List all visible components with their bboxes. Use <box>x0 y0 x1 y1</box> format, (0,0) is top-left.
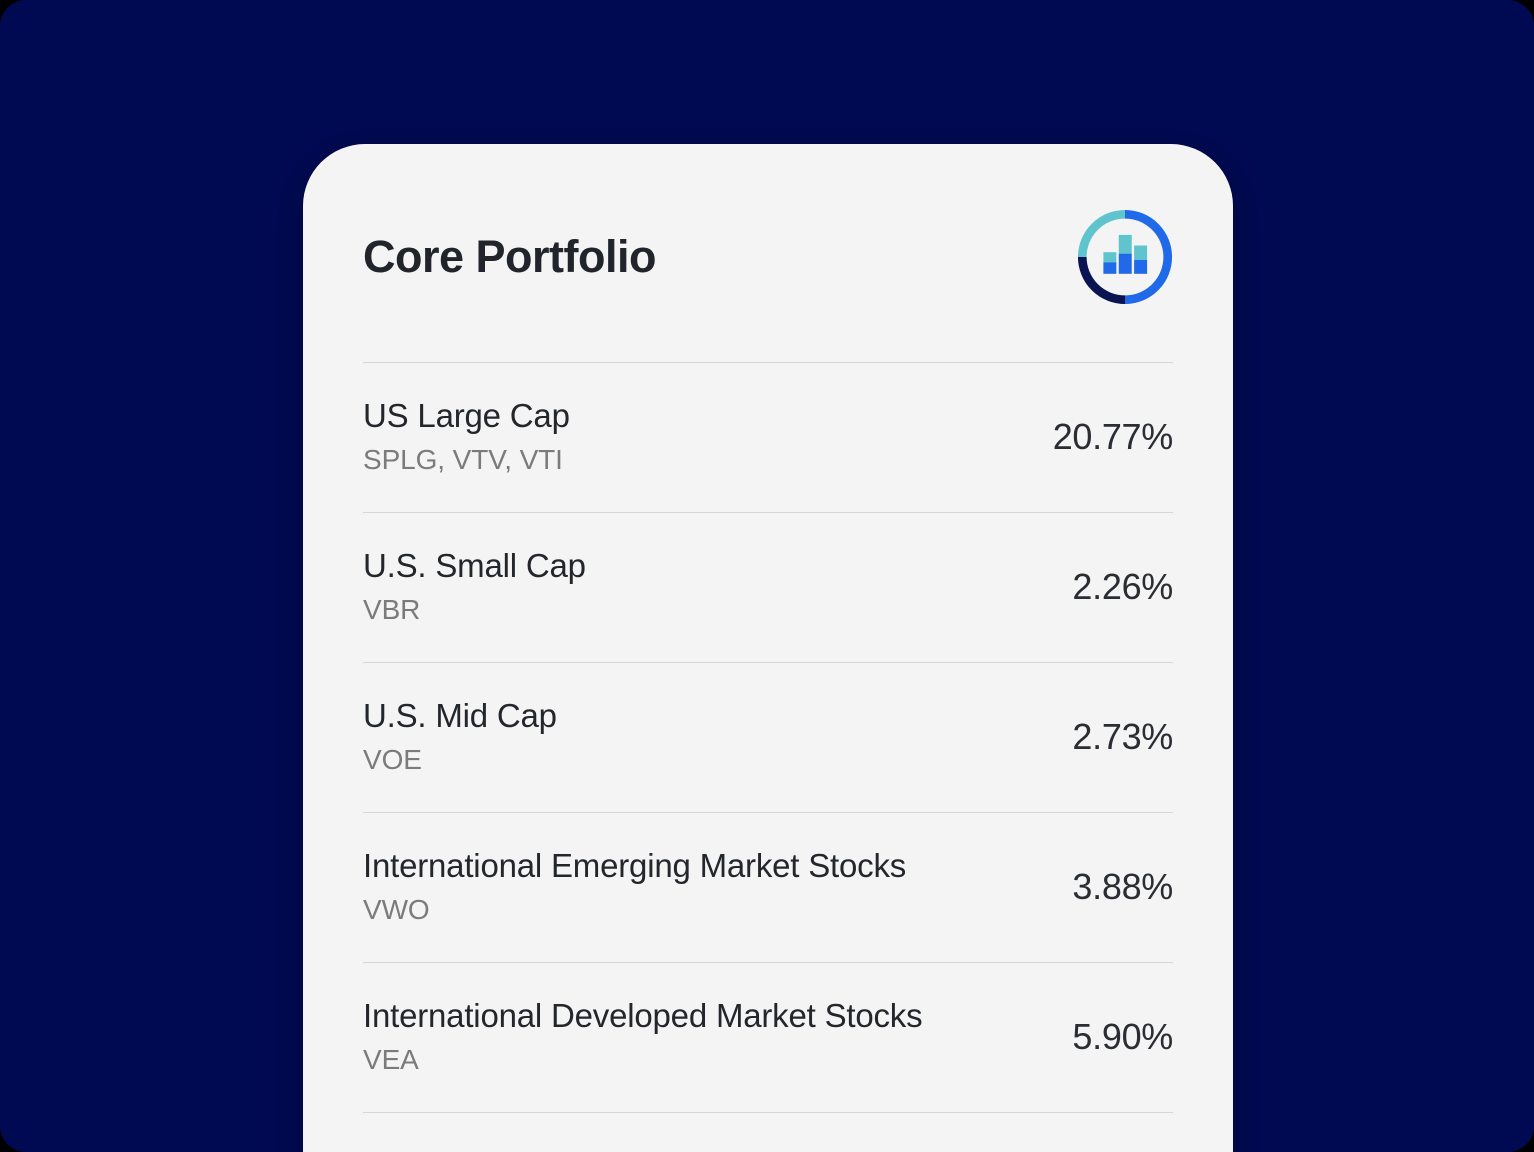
holding-allocation-percent: 5.90% <box>1072 1019 1173 1055</box>
holding-tickers: VOE <box>363 744 557 775</box>
holding-tickers: VBR <box>363 594 586 625</box>
list-bottom-divider <box>363 1112 1173 1113</box>
table-row[interactable]: International Emerging Market Stocks VWO… <box>363 812 1173 962</box>
holding-info: US Large Cap SPLG, VTV, VTI <box>363 398 570 475</box>
holding-name: U.S. Small Cap <box>363 548 586 585</box>
holding-tickers: VEA <box>363 1044 922 1075</box>
table-row[interactable]: U.S. Mid Cap VOE 2.73% <box>363 662 1173 812</box>
holding-name: International Developed Market Stocks <box>363 998 922 1035</box>
portfolio-donut-bar-chart-logo <box>1077 209 1173 305</box>
holding-name: US Large Cap <box>363 398 570 435</box>
holding-tickers: VWO <box>363 894 906 925</box>
holding-allocation-percent: 2.26% <box>1072 569 1173 605</box>
page-title: Core Portfolio <box>363 232 656 282</box>
bar-chart-glyph <box>1103 235 1147 274</box>
holding-allocation-percent: 3.88% <box>1072 869 1173 905</box>
holding-allocation-percent: 20.77% <box>1053 419 1173 455</box>
holding-name: International Emerging Market Stocks <box>363 848 906 885</box>
card-content: Core Portfolio <box>303 144 1233 1113</box>
holdings-list: US Large Cap SPLG, VTV, VTI 20.77% U.S. … <box>363 362 1173 1113</box>
donut-segment-teal <box>1082 214 1125 257</box>
core-portfolio-card: Core Portfolio <box>303 144 1233 1152</box>
holding-info: International Emerging Market Stocks VWO <box>363 848 906 925</box>
holding-allocation-percent: 2.73% <box>1072 719 1173 755</box>
table-row[interactable]: US Large Cap SPLG, VTV, VTI 20.77% <box>363 362 1173 512</box>
holding-info: International Developed Market Stocks VE… <box>363 998 922 1075</box>
holding-tickers: SPLG, VTV, VTI <box>363 444 570 475</box>
holding-info: U.S. Small Cap VBR <box>363 548 586 625</box>
page-backdrop: Core Portfolio <box>0 0 1534 1152</box>
card-header: Core Portfolio <box>363 144 1173 362</box>
holding-name: U.S. Mid Cap <box>363 698 557 735</box>
table-row[interactable]: International Developed Market Stocks VE… <box>363 962 1173 1112</box>
holding-info: U.S. Mid Cap VOE <box>363 698 557 775</box>
table-row[interactable]: U.S. Small Cap VBR 2.26% <box>363 512 1173 662</box>
